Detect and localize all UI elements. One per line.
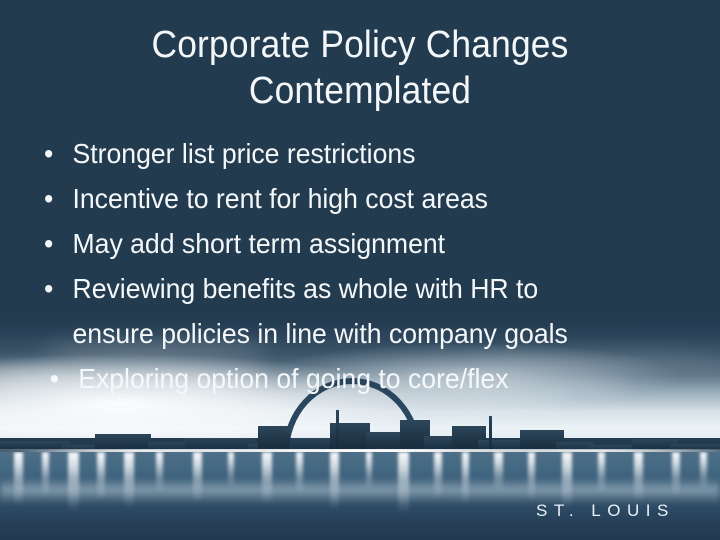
bullet-marker-icon: •	[44, 266, 73, 311]
river-water-reflections	[0, 452, 720, 540]
antenna-tower	[336, 410, 339, 454]
st-louis-watermark: ST. LOUIS	[536, 501, 675, 521]
bullet-marker-icon: •	[50, 356, 78, 401]
bullet-marker-icon: •	[44, 221, 73, 266]
presentation-slide: Corporate Policy Changes Contemplated • …	[0, 0, 720, 540]
bullet-list: • Stronger list price restrictions • Inc…	[44, 131, 662, 401]
bullet-marker-icon: •	[44, 131, 73, 176]
list-item: • Incentive to rent for high cost areas	[44, 176, 662, 221]
list-item: • Exploring option of going to core/flex	[44, 356, 662, 401]
list-item: • May add short term assignment	[44, 221, 662, 266]
list-item-text: Incentive to rent for high cost areas	[73, 176, 662, 221]
bullet-marker-icon: •	[44, 176, 73, 221]
list-item: • Reviewing benefits as whole with HR to…	[44, 266, 662, 356]
city-skyline-silhouette	[0, 414, 720, 454]
list-item: • Stronger list price restrictions	[44, 131, 662, 176]
list-item-text: May add short term assignment	[73, 221, 662, 266]
list-item-text: Reviewing benefits as whole with HR to e…	[73, 266, 662, 356]
list-item-text: Stronger list price restrictions	[73, 131, 662, 176]
list-item-text: Exploring option of going to core/flex	[78, 356, 661, 401]
slide-title: Corporate Policy Changes Contemplated	[25, 22, 695, 114]
